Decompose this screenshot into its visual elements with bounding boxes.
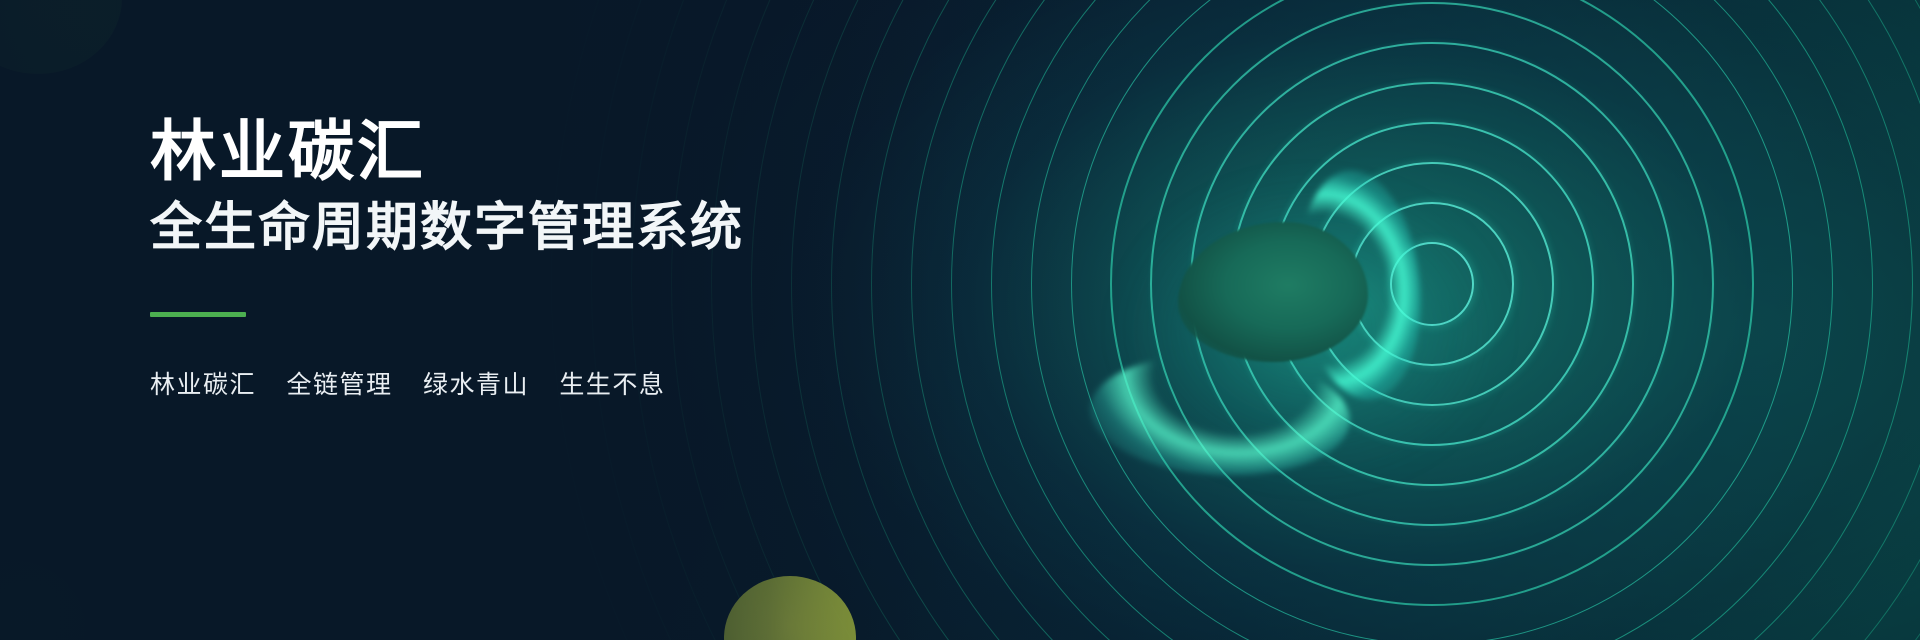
tagline-part-4: 生生不息 bbox=[559, 371, 665, 399]
tagline-part-3: 绿水青山 bbox=[423, 371, 529, 399]
tagline-part-1: 林业碳汇 bbox=[150, 371, 256, 399]
accent-divider-bar bbox=[150, 312, 246, 317]
tagline-part-2: 全链管理 bbox=[286, 371, 392, 399]
hero-banner: 林业碳汇 全生命周期数字管理系统 林业碳汇 全链管理 绿水青山 生生不息 bbox=[0, 0, 1920, 640]
page-title: 林业碳汇 bbox=[150, 118, 1050, 184]
banner-content: 林业碳汇 全生命周期数字管理系统 林业碳汇 全链管理 绿水青山 生生不息 bbox=[150, 118, 1050, 401]
page-subtitle: 全生命周期数字管理系统 bbox=[150, 202, 1050, 254]
tagline: 林业碳汇 全链管理 绿水青山 生生不息 bbox=[150, 365, 1050, 401]
